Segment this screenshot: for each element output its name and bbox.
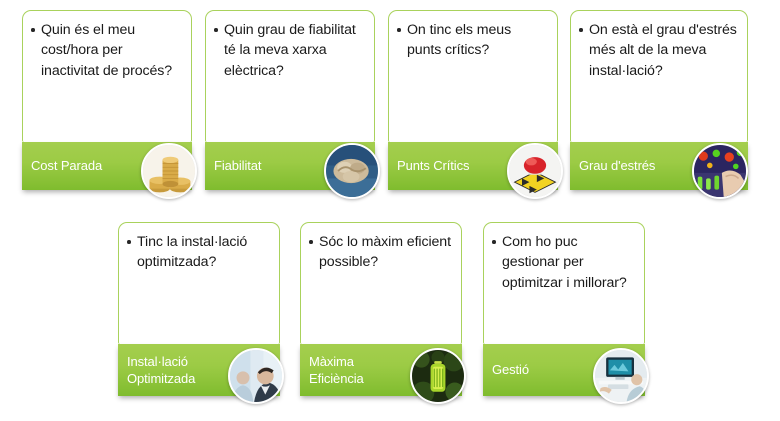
card-question-text: Sóc lo màxim eficient possible? — [319, 232, 451, 273]
card-grau-estres[interactable]: On està el grau d'estrés més alt de la m… — [570, 10, 748, 190]
green-battery-foliage-photo — [410, 348, 466, 404]
bullet-icon — [492, 240, 501, 244]
card-body: On està el grau d'estrés més alt de la m… — [570, 10, 748, 142]
engineers-photo — [228, 348, 284, 404]
card-question: Sóc lo màxim eficient possible? — [301, 223, 461, 279]
card-maxima-eficiencia[interactable]: Sóc lo màxim eficient possible? Màxima E… — [300, 222, 462, 405]
card-body: Tinc la instal·lació optimitzada? — [118, 222, 280, 344]
card-label: Punts Crítics — [388, 157, 473, 174]
card-label: Cost Parada — [22, 157, 106, 174]
bullet-icon — [31, 28, 40, 32]
card-label: Màxima Eficiència — [300, 353, 368, 387]
card-question-text: Com ho puc gestionar per optimitzar i mi… — [502, 232, 634, 293]
bullet-icon — [579, 28, 588, 32]
card-question: Com ho puc gestionar per optimitzar i mi… — [484, 223, 644, 299]
card-question: On tinc els meus punts crítics? — [389, 11, 557, 67]
card-gestio[interactable]: Com ho puc gestionar per optimitzar i mi… — [483, 222, 645, 405]
rope-knot-photo — [324, 143, 380, 199]
card-question: On està el grau d'estrés més alt de la m… — [571, 11, 747, 87]
card-body: Com ho puc gestionar per optimitzar i mi… — [483, 222, 645, 344]
card-question-text: Tinc la instal·lació optimitzada? — [137, 232, 269, 273]
card-fiabilitat[interactable]: Quin grau de fiabilitat té la meva xarxa… — [205, 10, 375, 190]
card-label: Instal·lació Optimitzada — [118, 353, 199, 387]
bullet-icon — [214, 28, 223, 32]
card-question-text: On tinc els meus punts crítics? — [407, 20, 547, 61]
slide-canvas: Quin és el meu cost/hora per inactivitat… — [0, 0, 780, 421]
card-installacio-optimitzada[interactable]: Tinc la instal·lació optimitzada? Instal… — [118, 222, 280, 405]
computer-workstation-photo — [593, 348, 649, 404]
card-question: Quin grau de fiabilitat té la meva xarxa… — [206, 11, 374, 87]
card-body: Quin és el meu cost/hora per inactivitat… — [22, 10, 192, 142]
card-punts-critics[interactable]: On tinc els meus punts crítics? Punts Cr… — [388, 10, 558, 190]
card-label: Fiabilitat — [205, 157, 265, 174]
card-question-text: Quin és el meu cost/hora per inactivitat… — [41, 20, 181, 81]
emergency-stop-button-photo — [507, 143, 563, 199]
card-question-text: Quin grau de fiabilitat té la meva xarxa… — [224, 20, 364, 81]
card-question-text: On està el grau d'estrés més alt de la m… — [589, 20, 737, 81]
bullet-icon — [397, 28, 406, 32]
stacked-coins-photo — [141, 143, 197, 199]
bullet-icon — [127, 240, 136, 244]
card-label: Gestió — [483, 361, 533, 378]
card-label: Grau d'estrés — [570, 157, 659, 174]
bullet-icon — [309, 240, 318, 244]
card-question: Quin és el meu cost/hora per inactivitat… — [23, 11, 191, 87]
card-cost-parada[interactable]: Quin és el meu cost/hora per inactivitat… — [22, 10, 192, 190]
card-body: Quin grau de fiabilitat té la meva xarxa… — [205, 10, 375, 142]
card-body: On tinc els meus punts crítics? — [388, 10, 558, 142]
card-body: Sóc lo màxim eficient possible? — [300, 222, 462, 344]
card-question: Tinc la instal·lació optimitzada? — [119, 223, 279, 279]
mixing-console-photo — [692, 143, 748, 199]
